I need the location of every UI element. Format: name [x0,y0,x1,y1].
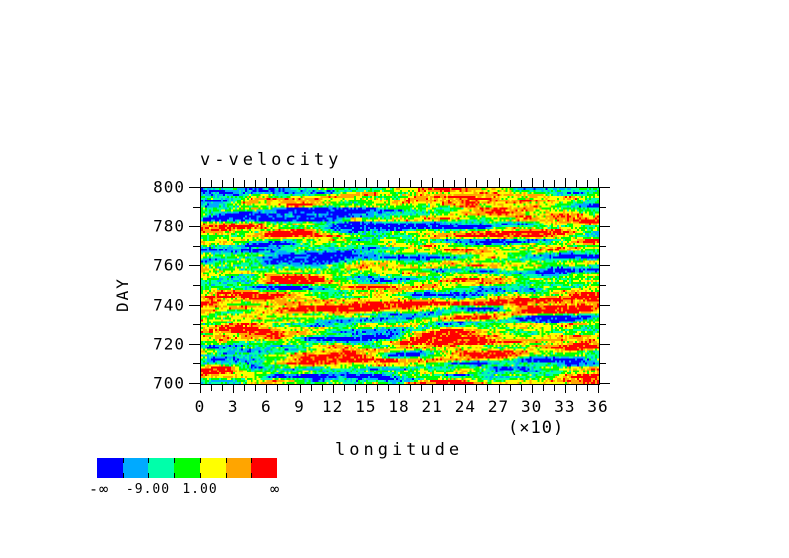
y-axis-tick [193,285,200,286]
x-axis-tick [499,384,500,393]
x-axis-tick-top [266,178,267,187]
figure-canvas: v-velocity 03691215182124273033367007207… [0,0,789,558]
colorbar-tick [148,458,149,463]
x-axis-tick [487,384,488,391]
x-axis-tick-top [499,178,500,187]
colorbar-tick [226,458,227,463]
colorbar-tick-label: 1.00 [182,482,217,497]
y-axis-tick [189,226,200,227]
colorbar-swatch [174,458,200,478]
y-axis-tick-right [599,226,610,227]
x-axis-tick [510,384,511,391]
x-axis-tick [377,384,378,391]
y-axis-tick-right [599,265,610,266]
x-axis-tick [421,384,422,391]
colorbar-tick [148,473,149,478]
y-axis-tick [189,187,200,188]
x-tick-label: 3 [228,397,239,416]
x-axis-tick [288,384,289,391]
x-tick-label: 9 [294,397,305,416]
x-axis-tick-top [311,180,312,187]
x-axis-multiplier: (×10) [508,418,564,438]
x-axis-tick-top [487,180,488,187]
y-axis-tick [189,265,200,266]
x-tick-label: 12 [322,397,343,416]
x-axis-tick [554,384,555,391]
x-axis-tick-top [543,180,544,187]
colorbar-tick [123,458,124,463]
x-tick-label: 33 [554,397,575,416]
x-axis-tick-top [554,180,555,187]
x-axis-tick-top [532,178,533,187]
y-axis-tick-right [599,363,606,364]
y-axis-tick-right [599,207,606,208]
x-axis-title: longitude [335,440,463,460]
x-axis-tick-top [576,180,577,187]
x-axis-tick-top [344,180,345,187]
x-axis-tick-top [377,180,378,187]
x-axis-tick-top [288,180,289,187]
colorbar-min-label: -∞ [89,482,109,497]
x-axis-tick [244,384,245,391]
y-axis-tick-right [599,305,610,306]
colorbar-tick-label: -9.00 [126,482,170,497]
y-axis-tick [193,246,200,247]
x-axis-tick [211,384,212,391]
x-tick-label: 6 [261,397,272,416]
x-axis-tick-top [399,178,400,187]
colorbar-tick [174,473,175,478]
x-axis-tick [200,384,201,393]
x-axis-tick [521,384,522,391]
x-axis-tick [532,384,533,393]
y-tick-label: 720 [130,334,185,353]
y-axis-tick-right [599,383,610,384]
colorbar-tick [251,458,252,463]
colorbar-swatch [226,458,252,478]
colorbar-swatch [200,458,226,478]
x-axis-tick-top [333,178,334,187]
x-axis-tick-top [598,178,599,187]
x-axis-tick-top [510,180,511,187]
x-axis-tick [311,384,312,391]
x-axis-tick-top [277,180,278,187]
colorbar-swatch [97,458,123,478]
x-axis-tick [233,384,234,393]
x-axis-tick [344,384,345,391]
x-axis-tick-top [465,178,466,187]
x-axis-tick [543,384,544,391]
colorbar-max-label: ∞ [270,482,280,497]
x-axis-tick [333,384,334,393]
x-axis-tick-top [476,180,477,187]
x-axis-tick [222,384,223,391]
y-axis-tick-right [599,187,610,188]
y-axis-tick-right [599,246,606,247]
y-axis-tick [189,344,200,345]
heatmap-plot-area [200,187,600,385]
x-axis-tick-top [410,180,411,187]
y-tick-label: 760 [130,256,185,275]
x-axis-tick [399,384,400,393]
x-axis-tick [366,384,367,393]
x-axis-tick-top [587,180,588,187]
y-axis-tick [193,324,200,325]
y-axis-tick-right [599,344,610,345]
x-axis-tick [277,384,278,391]
colorbar-swatch [148,458,174,478]
colorbar-tick [200,458,201,463]
x-axis-tick-top [200,178,201,187]
colorbar-tick [174,458,175,463]
y-axis-title: DAY [113,277,132,312]
y-tick-label: 740 [130,295,185,314]
x-tick-label: 0 [195,397,206,416]
x-axis-tick-top [255,180,256,187]
x-axis-tick [300,384,301,393]
colorbar-swatch [251,458,277,478]
y-axis-tick [193,363,200,364]
y-tick-label: 780 [130,217,185,236]
y-axis-tick [189,383,200,384]
y-axis-tick-right [599,324,606,325]
x-axis-tick [465,384,466,393]
x-axis-tick [443,384,444,391]
x-axis-tick-top [222,180,223,187]
x-tick-label: 36 [587,397,608,416]
x-tick-label: 15 [355,397,376,416]
x-tick-label: 21 [422,397,443,416]
y-axis-tick [189,305,200,306]
colorbar-tick [200,473,201,478]
x-axis-tick-top [388,180,389,187]
y-axis-tick-right [599,285,606,286]
x-axis-tick [576,384,577,391]
x-axis-tick-top [366,178,367,187]
x-axis-tick [255,384,256,391]
x-axis-tick-top [300,178,301,187]
x-axis-tick-top [432,178,433,187]
x-axis-tick [587,384,588,391]
colorbar-tick [226,473,227,478]
y-axis-tick [193,207,200,208]
x-axis-tick-top [244,180,245,187]
y-tick-label: 800 [130,178,185,197]
colorbar-tick [123,473,124,478]
x-axis-tick [388,384,389,391]
x-axis-tick-top [454,180,455,187]
x-axis-tick [565,384,566,393]
x-tick-label: 24 [455,397,476,416]
x-axis-tick-top [322,180,323,187]
x-tick-label: 30 [521,397,542,416]
x-axis-tick-top [211,180,212,187]
x-axis-tick [355,384,356,391]
colorbar-swatches [97,458,277,478]
y-tick-label: 700 [130,374,185,393]
x-axis-tick [266,384,267,393]
x-axis-tick [454,384,455,391]
x-axis-tick [322,384,323,391]
x-axis-tick [410,384,411,391]
x-axis-tick [476,384,477,391]
x-tick-label: 18 [388,397,409,416]
x-axis-tick [432,384,433,393]
x-axis-tick-top [421,180,422,187]
x-axis-tick-top [565,178,566,187]
colorbar-tick [251,473,252,478]
colorbar-legend: -∞-9.001.00∞ [97,458,277,478]
page-title: v-velocity [200,150,342,170]
x-axis-tick [598,384,599,393]
x-axis-tick-top [443,180,444,187]
heatmap-field [201,188,599,384]
x-axis-tick-top [233,178,234,187]
x-axis-tick-top [355,180,356,187]
x-tick-label: 27 [488,397,509,416]
x-axis-tick-top [521,180,522,187]
colorbar-swatch [123,458,149,478]
